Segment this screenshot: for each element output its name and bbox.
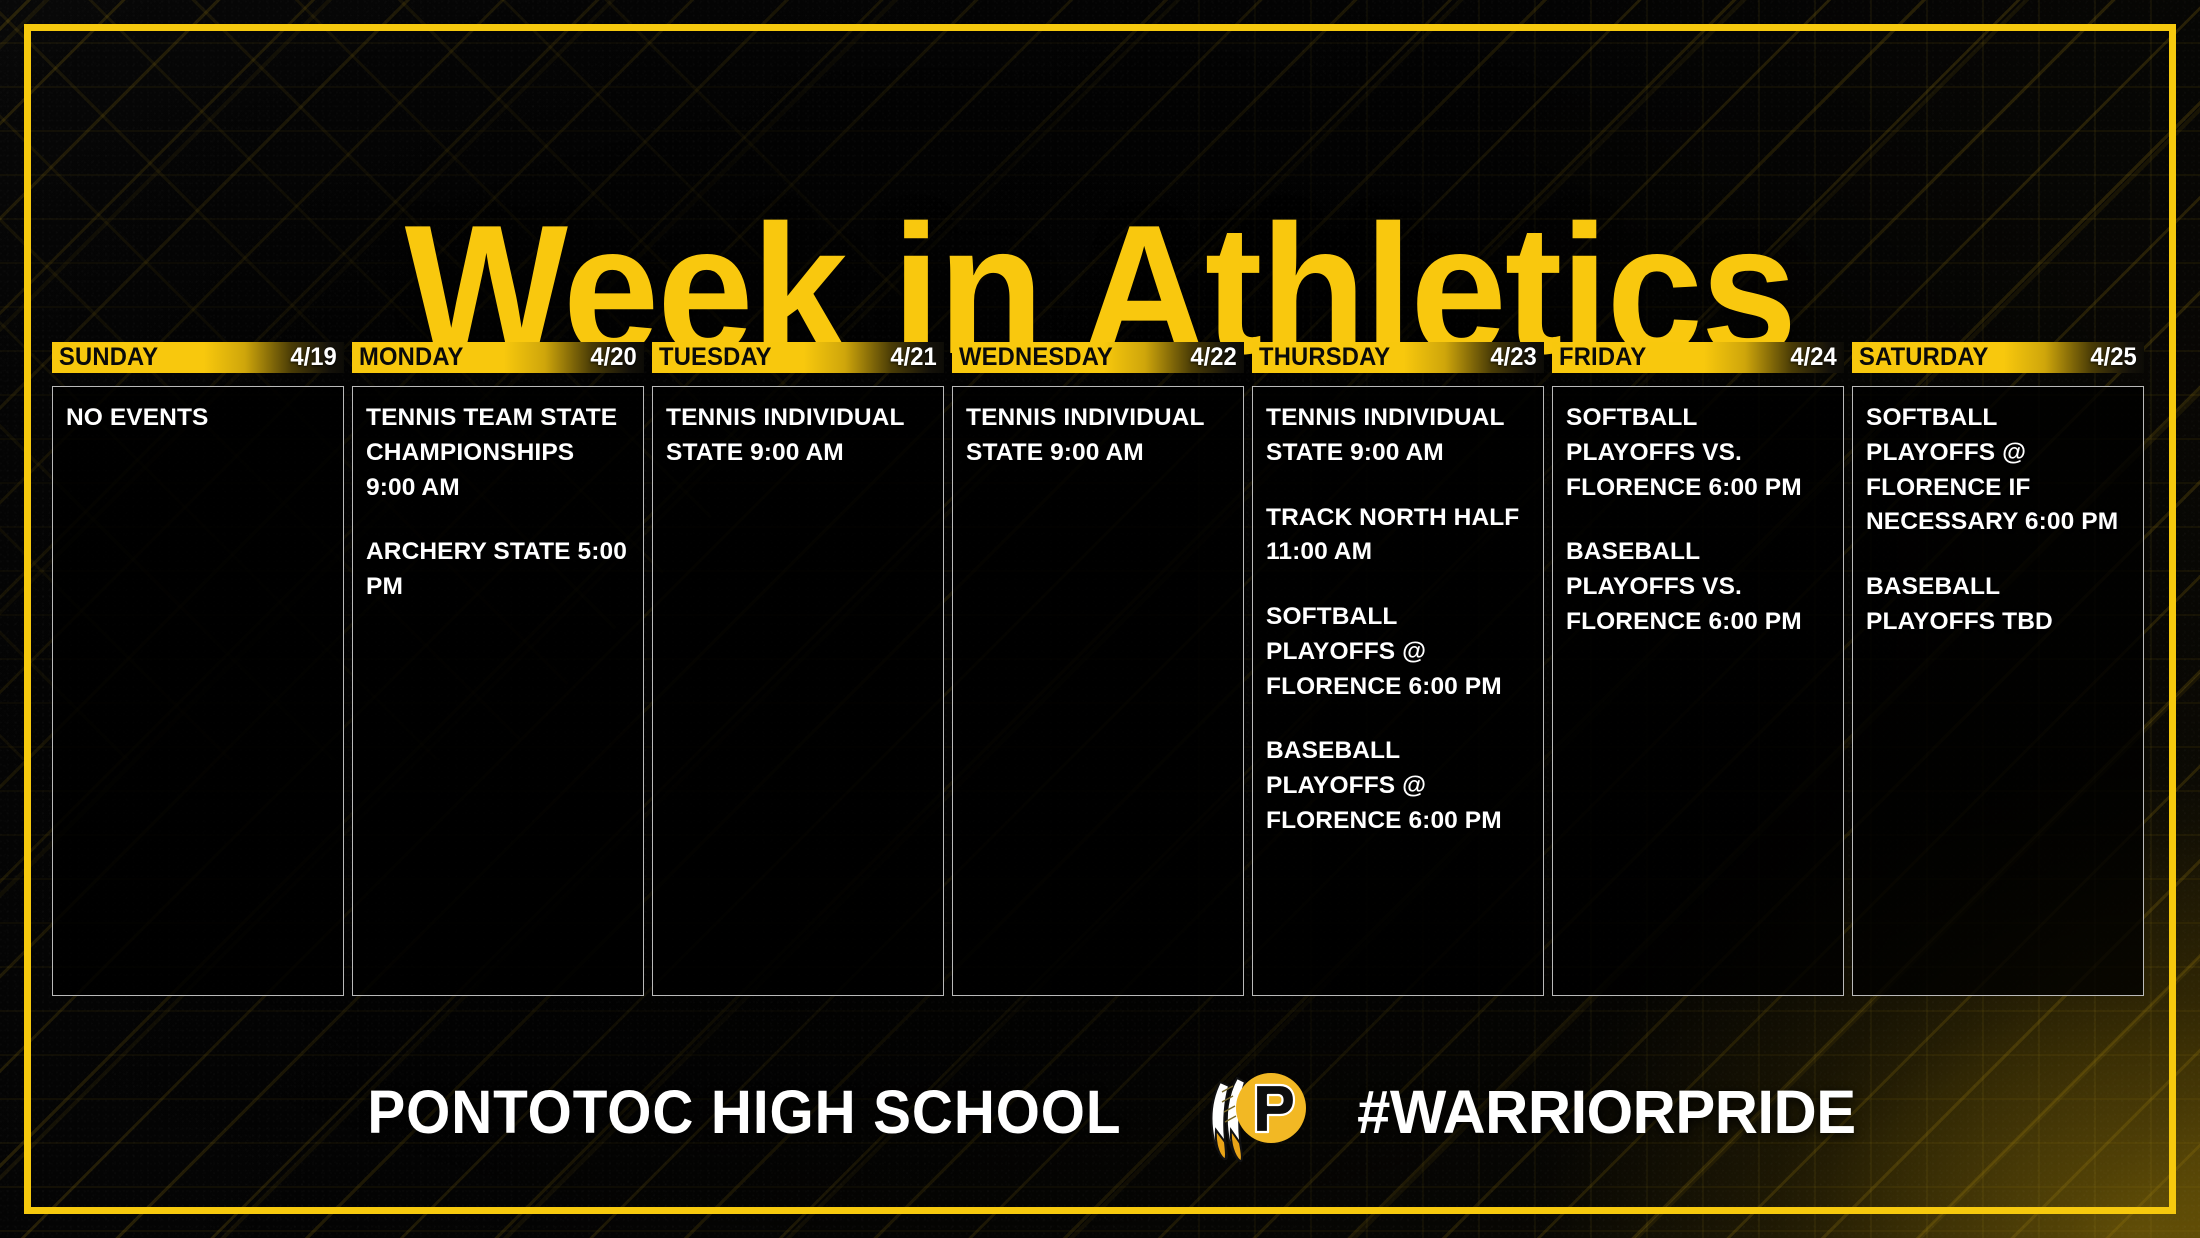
day-name: SATURDAY xyxy=(1859,343,1989,372)
footer: PONTOTOC HIGH SCHOOL #WARRIORPRIDE xyxy=(0,1060,2200,1164)
day-date: 4/24 xyxy=(1791,343,1837,372)
day-column-thursday: THURSDAY4/23TENNIS INDIVIDUAL STATE 9:00… xyxy=(1252,342,1552,996)
day-column-tuesday: TUESDAY4/21TENNIS INDIVIDUAL STATE 9:00 … xyxy=(652,342,952,996)
event-item: TENNIS TEAM STATE CHAMPIONSHIPS 9:00 AM xyxy=(366,401,630,505)
event-item: NO EVENTS xyxy=(66,401,330,436)
event-item: TRACK NORTH HALF 11:00 AM xyxy=(1266,501,1530,571)
week-in-athletics-graphic: Week in Athletics SUNDAY4/19NO EVENTSMON… xyxy=(0,0,2200,1238)
day-date: 4/25 xyxy=(2091,343,2137,372)
day-header-sunday: SUNDAY4/19 xyxy=(52,342,344,373)
event-item: SOFTBALL PLAYOFFS @ FLORENCE 6:00 PM xyxy=(1266,600,1530,704)
day-name: SUNDAY xyxy=(59,343,158,372)
event-item: SOFTBALL PLAYOFFS @ FLORENCE IF NECESSAR… xyxy=(1866,401,2130,540)
day-date: 4/22 xyxy=(1191,343,1237,372)
event-item: TENNIS INDIVIDUAL STATE 9:00 AM xyxy=(666,401,930,471)
events-card: SOFTBALL PLAYOFFS VS. FLORENCE 6:00 PMBA… xyxy=(1552,386,1844,996)
day-header-wednesday: WEDNESDAY4/22 xyxy=(952,342,1244,373)
events-card: TENNIS TEAM STATE CHAMPIONSHIPS 9:00 AMA… xyxy=(352,386,644,996)
day-date: 4/20 xyxy=(591,343,637,372)
event-item: TENNIS INDIVIDUAL STATE 9:00 AM xyxy=(1266,401,1530,471)
hashtag: #WARRIORPRIDE xyxy=(1357,1077,1855,1147)
day-name: MONDAY xyxy=(359,343,464,372)
day-column-monday: MONDAY4/20TENNIS TEAM STATE CHAMPIONSHIP… xyxy=(352,342,652,996)
day-name: FRIDAY xyxy=(1559,343,1646,372)
day-date: 4/21 xyxy=(891,343,937,372)
events-card: NO EVENTS xyxy=(52,386,344,996)
day-name: WEDNESDAY xyxy=(959,343,1113,372)
event-item: BASEBALL PLAYOFFS @ FLORENCE 6:00 PM xyxy=(1266,734,1530,838)
events-card: TENNIS INDIVIDUAL STATE 9:00 AM xyxy=(652,386,944,996)
day-column-saturday: SATURDAY4/25SOFTBALL PLAYOFFS @ FLORENCE… xyxy=(1852,342,2152,996)
event-item: BASEBALL PLAYOFFS TBD xyxy=(1866,570,2130,640)
week-grid: SUNDAY4/19NO EVENTSMONDAY4/20TENNIS TEAM… xyxy=(52,342,2200,996)
day-column-wednesday: WEDNESDAY4/22TENNIS INDIVIDUAL STATE 9:0… xyxy=(952,342,1252,996)
day-date: 4/23 xyxy=(1491,343,1537,372)
events-card: TENNIS INDIVIDUAL STATE 9:00 AMTRACK NOR… xyxy=(1252,386,1544,996)
day-header-tuesday: TUESDAY4/21 xyxy=(652,342,944,373)
event-item: TENNIS INDIVIDUAL STATE 9:00 AM xyxy=(966,401,1230,471)
day-header-saturday: SATURDAY4/25 xyxy=(1852,342,2144,373)
day-column-sunday: SUNDAY4/19NO EVENTS xyxy=(52,342,352,996)
day-name: THURSDAY xyxy=(1259,343,1390,372)
pontotoc-warriors-logo xyxy=(1192,1060,1310,1164)
day-header-friday: FRIDAY4/24 xyxy=(1552,342,1844,373)
day-column-friday: FRIDAY4/24SOFTBALL PLAYOFFS VS. FLORENCE… xyxy=(1552,342,1852,996)
events-card: TENNIS INDIVIDUAL STATE 9:00 AM xyxy=(952,386,1244,996)
school-name: PONTOTOC HIGH SCHOOL xyxy=(368,1077,1122,1147)
day-date: 4/19 xyxy=(291,343,337,372)
events-card: SOFTBALL PLAYOFFS @ FLORENCE IF NECESSAR… xyxy=(1852,386,2144,996)
event-item: BASEBALL PLAYOFFS VS. FLORENCE 6:00 PM xyxy=(1566,535,1830,639)
day-header-thursday: THURSDAY4/23 xyxy=(1252,342,1544,373)
day-name: TUESDAY xyxy=(659,343,772,372)
day-header-monday: MONDAY4/20 xyxy=(352,342,644,373)
event-item: SOFTBALL PLAYOFFS VS. FLORENCE 6:00 PM xyxy=(1566,401,1830,505)
event-item: ARCHERY STATE 5:00 PM xyxy=(366,535,630,605)
